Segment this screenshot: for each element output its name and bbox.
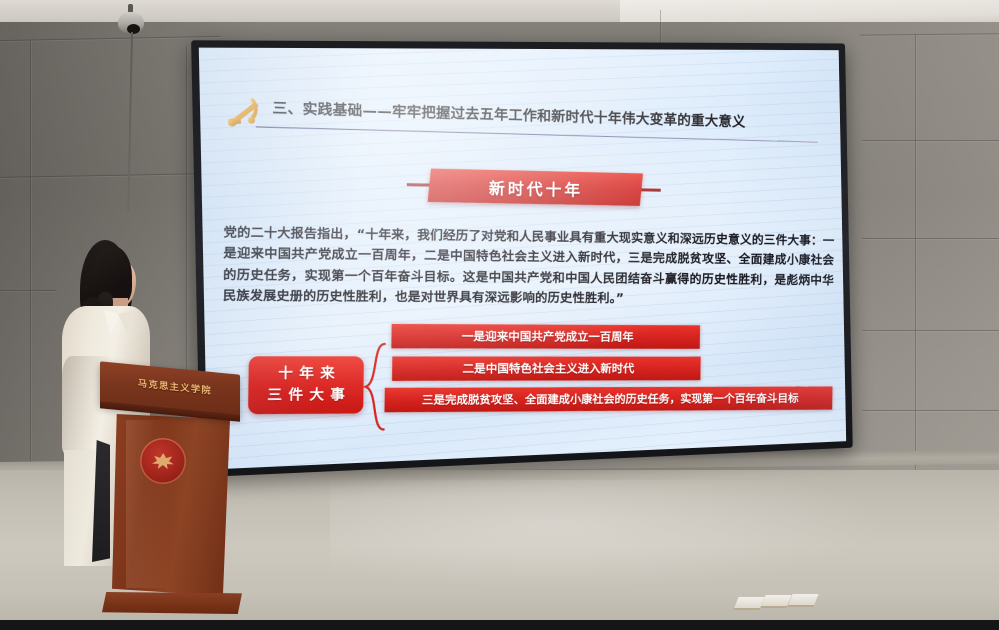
camera-lens-icon xyxy=(127,24,140,34)
slide-body-paragraph: 党的二十大报告指出，“十年来，我们经历了对党和人民事业具有重大现实意义和深远历史… xyxy=(223,222,835,310)
section-ribbon-banner: 新时代十年 xyxy=(428,169,643,206)
floor-item xyxy=(787,594,818,607)
summary-label-line-1: 十年来 xyxy=(272,363,341,385)
screen-surface: 三、实践基础——牢牢把握过去五年工作和新时代十年伟大变革的重大意义 新时代十年 … xyxy=(199,48,846,470)
lecture-hall-photo: 三、实践基础——牢牢把握过去五年工作和新时代十年伟大变革的重大意义 新时代十年 … xyxy=(0,0,999,630)
list-item: 二是中国特色社会主义进入新时代 xyxy=(392,356,701,380)
floor-item xyxy=(733,597,764,610)
floor-reflection xyxy=(330,480,890,590)
curly-brace-icon xyxy=(363,342,387,432)
list-item: 三是完成脱贫攻坚、全面建成小康社会的历史任务，实现第一个百年奋斗目标 xyxy=(384,386,832,412)
screen-bezel: 三、实践基础——牢牢把握过去五年工作和新时代十年伟大变革的重大意义 新时代十年 … xyxy=(191,40,853,477)
summary-label-line-2: 三件大事 xyxy=(261,385,351,407)
wall-seam xyxy=(862,238,999,239)
wall-seam xyxy=(660,10,661,46)
list-item: 一是迎来中国共产党成立一百周年 xyxy=(391,324,700,349)
wall-seam xyxy=(30,40,31,472)
wall-seam xyxy=(862,140,999,141)
wall-seam xyxy=(862,410,999,411)
led-display-screen[interactable]: 三、实践基础——牢牢把握过去五年工作和新时代十年伟大变革的重大意义 新时代十年 … xyxy=(206,42,864,462)
ribbon-label: 新时代十年 xyxy=(489,174,583,200)
presentation-slide: 三、实践基础——牢牢把握过去五年工作和新时代十年伟大变革的重大意义 新时代十年 … xyxy=(199,48,846,470)
floor-objects xyxy=(736,594,828,616)
summary-label-box: 十年来 三件大事 xyxy=(248,356,364,414)
wall-seam xyxy=(862,330,999,331)
image-letterbox-bar xyxy=(0,620,999,630)
podium-base xyxy=(102,592,242,614)
lectern-podium: 马克思主义学院 xyxy=(96,368,244,630)
crest-glyph-icon xyxy=(150,451,177,472)
wall-seam xyxy=(915,34,916,474)
